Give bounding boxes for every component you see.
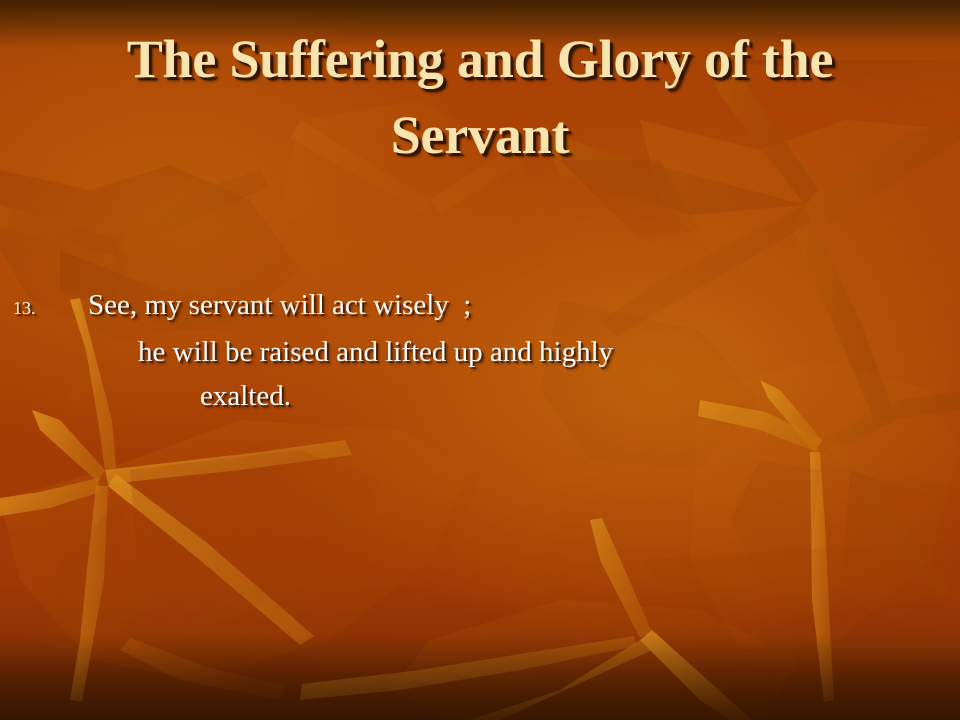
slide-body: 13.See, my servant will act wisely ; he … [0,283,960,418]
verse-line-1: 13.See, my servant will act wisely ; [0,283,960,330]
presentation-slide: The Suffering and Glory of the Servant 1… [0,0,960,720]
verse-number-marker: 13. [13,286,88,330]
verse-line-3-text: exalted. [200,380,291,412]
verse-line-2-text: he will be raised and lifted up and high… [138,336,613,368]
verse-line-2: he will be raised and lifted up and high… [0,330,960,374]
slide-title: The Suffering and Glory of the Servant [28,22,932,173]
verse-line-1-text: See, my servant will act wisely ; [88,289,471,321]
verse-line-3: exalted. [0,374,960,418]
